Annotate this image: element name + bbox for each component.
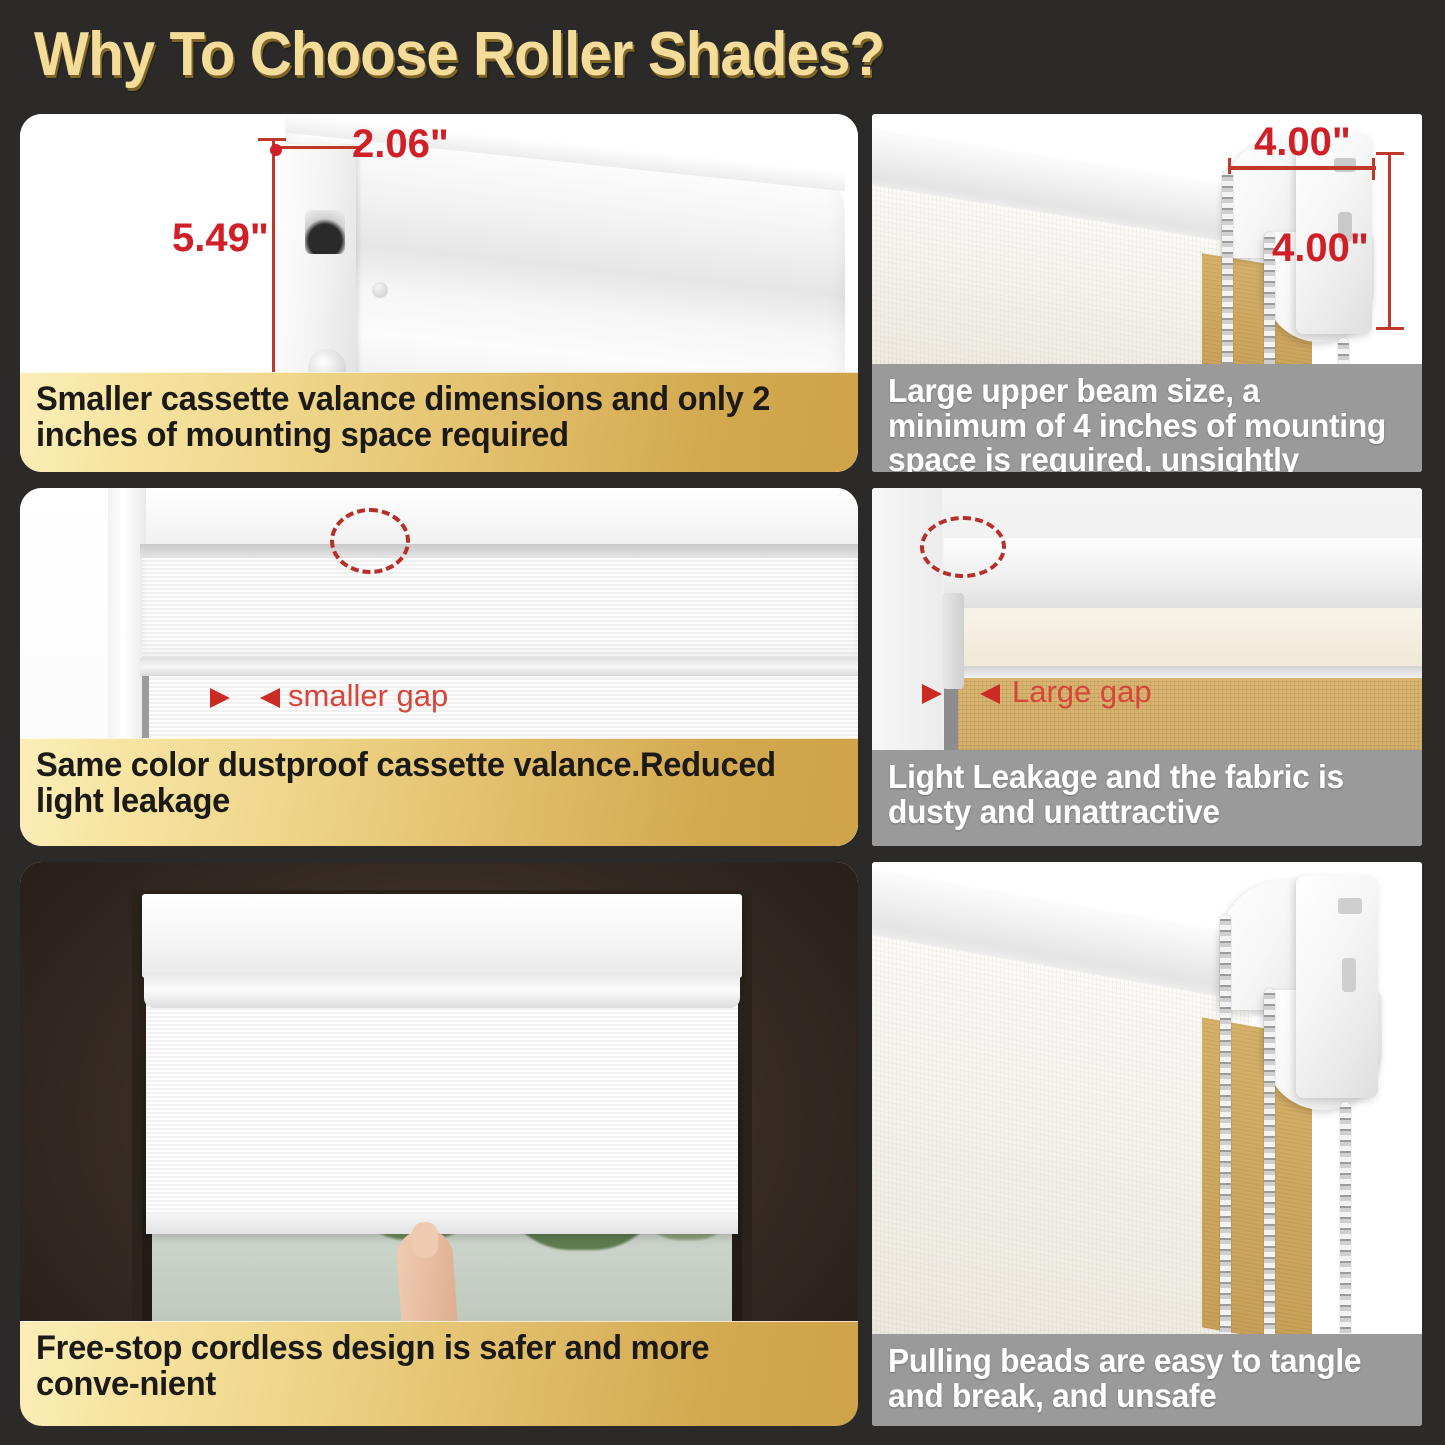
panel-caption-con-beam-size: Large upper beam size, a minimum of 4 in… bbox=[872, 364, 1422, 472]
panel-caption-con-light-leakage: Light Leakage and the fabric is dusty an… bbox=[872, 750, 1422, 846]
panel-pro-dustproof-valance: smaller gap Same color dustproof cassett… bbox=[20, 488, 858, 846]
dimension-width-label: 4.00" bbox=[1254, 120, 1351, 165]
page-header: Why To Choose Roller Shades? bbox=[0, 0, 1445, 108]
gap-arrow-left-icon bbox=[980, 684, 1000, 704]
gap-arrow-right-icon bbox=[922, 684, 942, 704]
page-title: Why To Choose Roller Shades? bbox=[34, 19, 884, 90]
gap-arrow-left-icon bbox=[260, 688, 280, 708]
panel-caption-pro-cassette-size: Smaller cassette valance dimensions and … bbox=[20, 372, 858, 472]
panel-caption-con-pull-beads: Pulling beads are easy to tangle and bre… bbox=[872, 1334, 1422, 1426]
dimension-height-label: 4.00" bbox=[1272, 226, 1369, 271]
panel-pro-cassette-size: 2.06" 5.49" Smaller cassette valance dim… bbox=[20, 114, 858, 472]
panel-pro-cordless-design: Free-stop cordless design is safer and m… bbox=[20, 862, 858, 1426]
highlight-ellipse-icon bbox=[920, 516, 1006, 578]
gap-arrow-right-icon bbox=[210, 688, 230, 708]
panel-caption-pro-dustproof-valance: Same color dustproof cassette valance.Re… bbox=[20, 738, 858, 846]
dimension-width-label: 2.06" bbox=[352, 122, 449, 167]
panel-con-beam-size: 4.00" 4.00" Large upper beam size, a min… bbox=[872, 114, 1422, 472]
highlight-ellipse-icon bbox=[330, 508, 410, 574]
panel-con-pull-beads: Pulling beads are easy to tangle and bre… bbox=[872, 862, 1422, 1426]
panel-caption-pro-cordless-design: Free-stop cordless design is safer and m… bbox=[20, 1321, 858, 1426]
gap-label: smaller gap bbox=[288, 678, 448, 714]
panel-con-light-leakage: Large gap Light Leakage and the fabric i… bbox=[872, 488, 1422, 846]
gap-label: Large gap bbox=[1012, 674, 1152, 710]
dimension-height-label: 5.49" bbox=[172, 216, 269, 261]
